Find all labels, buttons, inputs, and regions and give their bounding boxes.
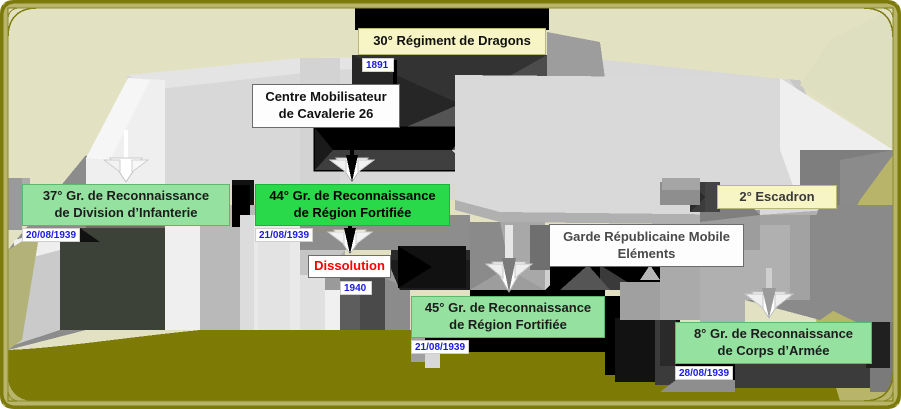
node-label: Dissolution — [314, 258, 385, 275]
date-tag-21-08-1939-gr44: 21/08/1939 — [255, 228, 313, 242]
node-2e-escadron[interactable]: 2° Escadron — [717, 185, 837, 209]
node-label: Garde Républicaine Mobile Eléments — [563, 229, 730, 262]
diagram-root: 30° Régiment de Dragons Centre Mobilisat… — [0, 0, 901, 409]
date-label: 21/08/1939 — [415, 342, 465, 353]
date-tag-21-08-1939-gr45: 21/08/1939 — [411, 340, 469, 354]
node-label: 37° Gr. de Reconnaissance de Division d’… — [43, 188, 209, 221]
node-label: 45° Gr. de Reconnaissance de Région Fort… — [425, 300, 591, 333]
date-tag-20-08-1939: 20/08/1939 — [22, 228, 80, 242]
node-label: 44° Gr. de Reconnaissance de Région Fort… — [269, 188, 435, 221]
block-top-black — [355, 8, 549, 30]
node-44e-gr-de-reconnaissance-de-region-fortifiee[interactable]: 44° Gr. de Reconnaissance de Région Fort… — [255, 184, 450, 226]
node-30e-regiment-de-dragons[interactable]: 30° Régiment de Dragons — [358, 28, 546, 55]
node-centre-mobilisateur-de-cavalerie-26[interactable]: Centre Mobilisateur de Cavalerie 26 — [252, 84, 400, 128]
node-label: 30° Régiment de Dragons — [373, 33, 531, 50]
node-garde-republicaine-mobile-elements[interactable]: Garde Républicaine Mobile Eléments — [549, 224, 744, 267]
date-tag-1891: 1891 — [362, 58, 394, 72]
date-label: 1891 — [366, 60, 388, 71]
date-label: 28/08/1939 — [679, 368, 729, 379]
date-tag-28-08-1939: 28/08/1939 — [675, 366, 733, 380]
date-label: 20/08/1939 — [26, 230, 76, 241]
node-label: 2° Escadron — [739, 189, 814, 206]
date-label: 1940 — [344, 283, 366, 294]
node-label: Centre Mobilisateur de Cavalerie 26 — [265, 89, 386, 122]
node-37e-gr-de-reconnaissance-de-division-d-infanterie[interactable]: 37° Gr. de Reconnaissance de Division d’… — [22, 184, 230, 226]
node-dissolution[interactable]: Dissolution — [308, 255, 391, 278]
date-label: 21/08/1939 — [259, 230, 309, 241]
node-8e-gr-de-reconnaissance-de-corps-d-armee[interactable]: 8° Gr. de Reconnaissance de Corps d’Armé… — [675, 322, 872, 364]
node-45e-gr-de-reconnaissance-de-region-fortifiee[interactable]: 45° Gr. de Reconnaissance de Région Fort… — [411, 296, 605, 338]
node-label: 8° Gr. de Reconnaissance de Corps d’Armé… — [694, 326, 853, 359]
date-tag-1940: 1940 — [340, 281, 372, 295]
